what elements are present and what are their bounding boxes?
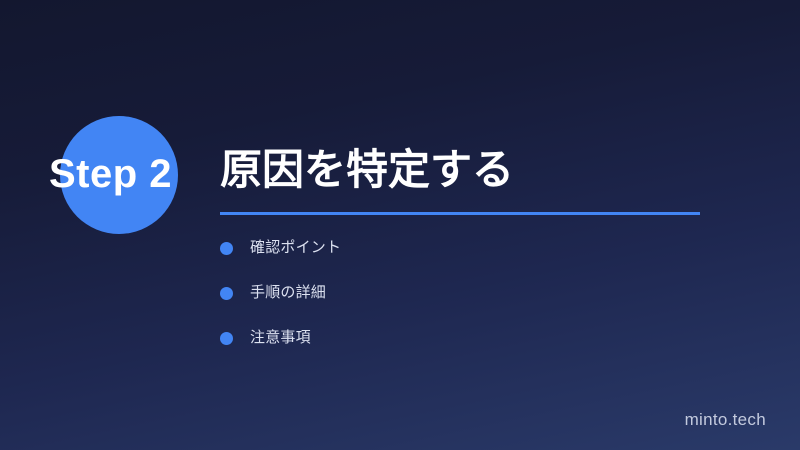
title-block: 原因を特定する [220,144,720,196]
footer-brand-label: minto.tech [685,410,766,430]
list-item-label: 確認ポイント [250,238,341,258]
bullet-dot-icon [220,242,233,255]
bullet-list: 確認ポイント 手順の詳細 注意事項 [220,236,700,371]
list-item: 確認ポイント [220,236,700,260]
list-item: 手順の詳細 [220,281,700,305]
step-number-label: Step 2 [49,151,172,197]
slide-title: 原因を特定する [220,144,720,196]
list-item: 注意事項 [220,326,700,350]
presentation-slide: Step 2 原因を特定する 確認ポイント 手順の詳細 注意事項 minto.t… [0,0,800,450]
bullet-dot-icon [220,287,233,300]
list-item-label: 手順の詳細 [250,283,326,303]
list-item-label: 注意事項 [250,328,311,348]
title-divider [220,212,700,215]
bullet-dot-icon [220,332,233,345]
